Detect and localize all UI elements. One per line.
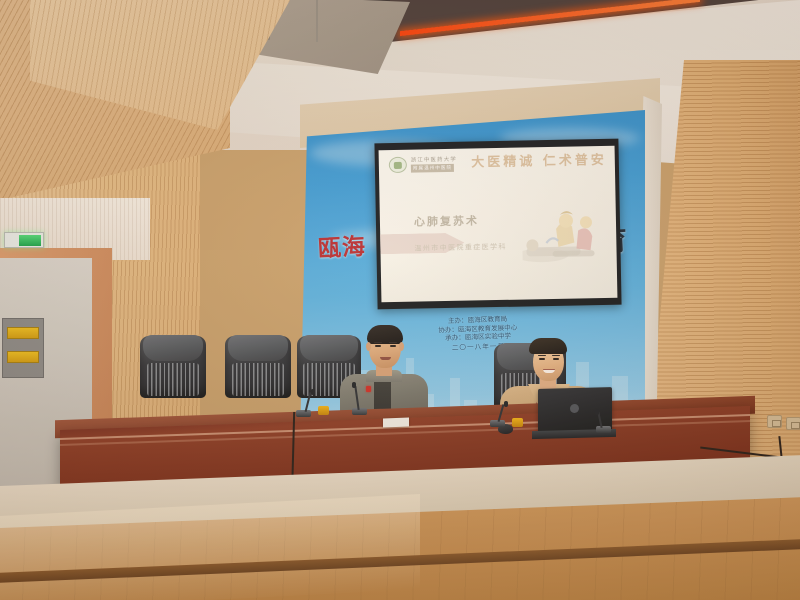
slide-header: 浙江中医药大学 附属温州中医院 大医精诚 仁术普安 xyxy=(379,146,616,181)
laptop-logo-icon xyxy=(570,404,579,413)
chair-1[interactable] xyxy=(140,336,206,398)
exit-sign xyxy=(4,232,44,248)
power-outlet[interactable] xyxy=(767,415,782,428)
red-lapel-pin xyxy=(366,386,371,392)
slide-hospital-name: 附属温州中医院 xyxy=(411,164,454,173)
note-card xyxy=(383,418,409,428)
cpr-demonstration-illustration xyxy=(522,206,603,270)
microphone-1-indicator xyxy=(318,406,329,415)
slide-title: 心肺复苏术 xyxy=(414,212,479,229)
projection-screen-surface: 浙江中医药大学 附属温州中医院 大医精诚 仁术普安 心肺复苏术 温州市中医院重症… xyxy=(379,146,618,303)
notice-board xyxy=(2,318,44,378)
slide-subtitle: 温州市中医院重症医学科 xyxy=(414,242,507,254)
projection-screen: 浙江中医药大学 附属温州中医院 大医精诚 仁术普安 心肺复苏术 温州市中医院重症… xyxy=(374,139,621,310)
slide-calligraphy-motto: 大医精诚 仁术普安 xyxy=(471,149,607,171)
ceiling-hanger-rod xyxy=(316,0,318,42)
banner-text-left: 瓯海 xyxy=(317,226,379,269)
conference-room-photo: 瓯海 育 主办：瓯海区教育局 协办：瓯海区教育发展中心 承办：瓯海区实验中学 二… xyxy=(0,0,800,600)
microphone-3-indicator xyxy=(512,418,523,427)
power-outlet-secondary[interactable] xyxy=(786,417,800,430)
slide-university-name: 浙江中医药大学 xyxy=(411,155,457,164)
exit-sign-green-panel xyxy=(19,235,41,246)
university-emblem-icon xyxy=(389,157,407,173)
chair-2[interactable] xyxy=(225,336,291,398)
